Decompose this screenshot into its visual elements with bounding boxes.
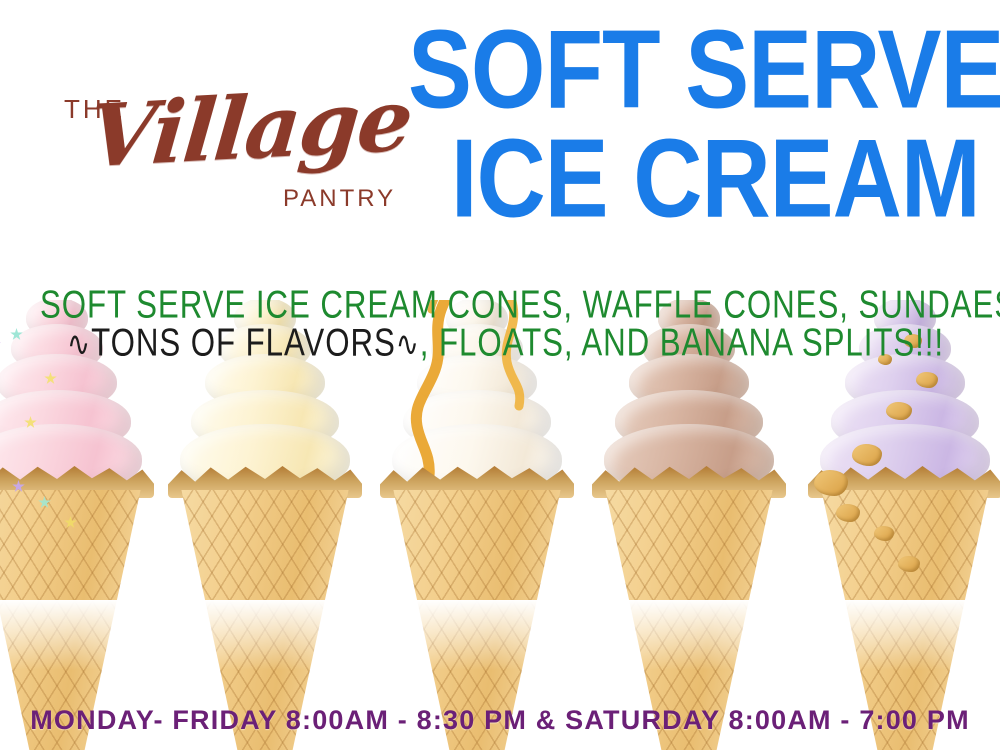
headline-line-1: SOFT SERVE	[408, 23, 979, 118]
nut-crumble-icon	[874, 526, 894, 541]
nut-crumble-icon	[852, 444, 882, 466]
menu-subtitle: SOFT SERVE ICE CREAM CONES, WAFFLE CONES…	[0, 286, 1000, 362]
flourish-left-icon: ∿	[67, 325, 91, 365]
page-title: SOFT SERVE ICE CREAM	[408, 30, 968, 220]
nut-crumble-icon	[886, 402, 912, 420]
store-hours: MONDAY- FRIDAY 8:00AM - 8:30 PM & SATURD…	[0, 705, 1000, 736]
cone-vanilla	[160, 320, 370, 750]
cone-chocolate	[584, 320, 794, 750]
subtitle-line-2-rest: , FLOATS, AND BANANA SPLITS!!!	[420, 321, 944, 364]
logo-pantry-text: PANTRY	[283, 185, 396, 213]
subtitle-highlight: TONS OF FLAVORS	[91, 321, 396, 364]
logo-village-script: Village	[85, 70, 416, 188]
flourish-right-icon: ∿	[396, 325, 420, 365]
poster-canvas: THE Village PANTRY SOFT SERVE ICE CREAM …	[0, 0, 1000, 750]
nut-crumble-icon	[814, 470, 848, 496]
village-pantry-logo: THE Village PANTRY	[58, 72, 403, 232]
cone-strawberry	[0, 320, 162, 750]
ice-cream-cones-band	[0, 300, 1000, 750]
subtitle-line-1: SOFT SERVE ICE CREAM CONES, WAFFLE CONES…	[40, 283, 960, 326]
nut-crumble-icon	[916, 372, 938, 388]
cone-ube	[800, 320, 1000, 750]
headline-line-2: ICE CREAM	[408, 132, 979, 227]
subtitle-line-2: ∿TONS OF FLAVORS∿, FLOATS, AND BANANA SP…	[40, 321, 960, 364]
nut-crumble-icon	[836, 504, 860, 522]
nut-crumble-icon	[898, 556, 920, 572]
cone-caramel	[372, 320, 582, 750]
